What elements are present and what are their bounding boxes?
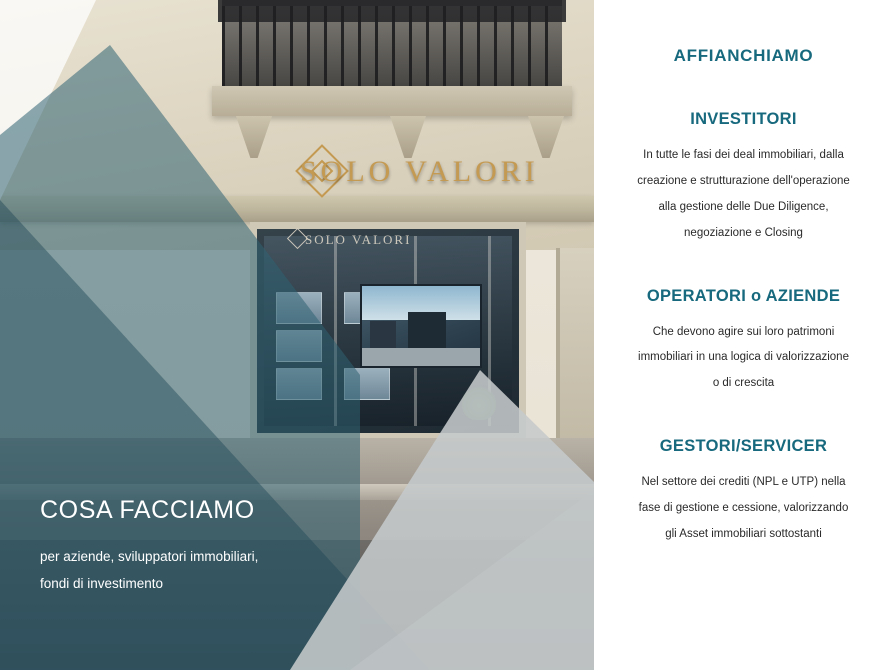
section-line: gli Asset immobiliari sottostanti bbox=[608, 522, 879, 548]
section-line: In tutte le fasi dei deal immobiliari, d… bbox=[608, 143, 879, 169]
slide: SOLO VALORI bbox=[0, 0, 893, 670]
plant-icon bbox=[462, 384, 496, 420]
right-text-panel: AFFIANCHIAMO INVESTITORI In tutte le fas… bbox=[594, 0, 893, 670]
screen-building-1 bbox=[370, 321, 396, 348]
section-title-investitori: INVESTITORI bbox=[608, 110, 879, 129]
poster-2 bbox=[276, 330, 322, 362]
entrance-door bbox=[556, 248, 594, 458]
storefront-sign-text: SOLO VALORI bbox=[300, 155, 539, 189]
right-panel-heading: AFFIANCHIAMO bbox=[608, 46, 879, 66]
poster-5 bbox=[344, 368, 390, 400]
section-line: alla gestione delle Due Diligence, bbox=[608, 195, 879, 221]
section-line: Che devono agire sui loro patrimoni bbox=[608, 320, 879, 346]
section-gestori-servicer: GESTORI/SERVICER Nel settore dei crediti… bbox=[608, 437, 879, 548]
display-screen bbox=[360, 284, 482, 368]
shop-window-glass bbox=[264, 236, 512, 426]
balcony-base bbox=[212, 86, 572, 116]
facade-cornice bbox=[0, 196, 594, 222]
left-subtitle-line-2: fondi di investimento bbox=[40, 570, 370, 598]
section-line: immobiliari in una logica di valorizzazi… bbox=[608, 345, 879, 371]
left-text-block: COSA FACCIAMO per aziende, sviluppatori … bbox=[40, 496, 370, 598]
poster-3 bbox=[276, 368, 322, 400]
section-investitori: INVESTITORI In tutte le fasi dei deal im… bbox=[608, 110, 879, 247]
section-line: fase di gestione e cessione, valorizzand… bbox=[608, 496, 879, 522]
left-subtitle-line-1: per aziende, sviluppatori immobiliari, bbox=[40, 543, 370, 571]
section-title-gestori-servicer: GESTORI/SERVICER bbox=[608, 437, 879, 456]
window-mullion-1 bbox=[334, 236, 337, 426]
left-image-panel: SOLO VALORI bbox=[0, 0, 594, 670]
screen-building-2 bbox=[408, 312, 446, 349]
section-line: o di crescita bbox=[608, 371, 879, 397]
shop-window bbox=[250, 222, 526, 440]
section-line: negoziazione e Closing bbox=[608, 221, 879, 247]
window-sign-text: SOLO VALORI bbox=[305, 232, 411, 248]
screen-ground bbox=[362, 348, 480, 366]
section-title-operatori-aziende: OPERATORI o AZIENDE bbox=[608, 287, 879, 306]
section-line: Nel settore dei crediti (NPL e UTP) nell… bbox=[608, 470, 879, 496]
poster-1 bbox=[276, 292, 322, 324]
spacer bbox=[608, 423, 879, 437]
section-line: creazione e strutturazione dell'operazio… bbox=[608, 169, 879, 195]
section-operatori-aziende: OPERATORI o AZIENDE Che devono agire sui… bbox=[608, 287, 879, 398]
left-title: COSA FACCIAMO bbox=[40, 496, 370, 525]
spacer bbox=[608, 273, 879, 287]
balcony-railing bbox=[222, 0, 562, 99]
